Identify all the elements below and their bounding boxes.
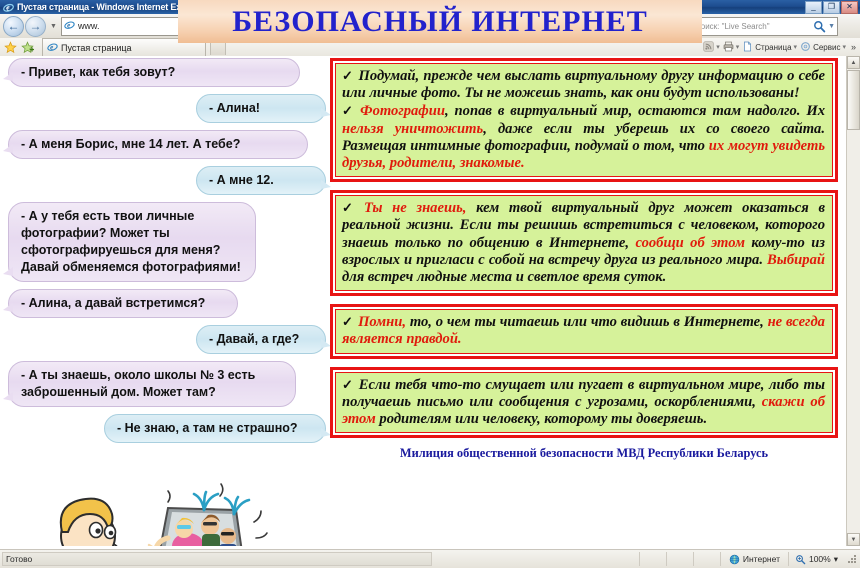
- tip-text: Если тебя что-то смущает или пугает в ви…: [342, 377, 825, 410]
- print-icon: [723, 41, 734, 54]
- back-button[interactable]: ←: [3, 16, 24, 37]
- tip-paragraph: ✓Подумай, прежде чем выслать виртуальном…: [342, 67, 825, 172]
- svg-text:e: e: [6, 5, 9, 12]
- command-item-page-label: Страница: [755, 43, 791, 52]
- status-cell: [693, 552, 720, 566]
- rss-feed-icon: [703, 41, 714, 54]
- chat-bubble: - Привет, как тебя зовут?: [8, 58, 300, 87]
- security-zone-label: Интернет: [743, 554, 780, 564]
- tools-icon: [800, 41, 811, 54]
- ie-logo-icon: e: [3, 2, 14, 13]
- tip-box: ✓Если тебя что-то смущает или пугает в в…: [330, 367, 838, 439]
- command-item-feeds[interactable]: ▾: [703, 41, 720, 54]
- forward-button[interactable]: →: [25, 16, 46, 37]
- ie-logo-icon: e: [64, 17, 75, 35]
- tip-box: ✓Ты не знаешь, кем твой виртуальный друг…: [330, 190, 838, 296]
- status-bar: Готово Интернет: [0, 549, 860, 568]
- safety-tips-panel: ✓Подумай, прежде чем выслать виртуальном…: [330, 58, 838, 461]
- check-icon: ✓: [342, 200, 359, 215]
- tip-text-highlight: нельзя уничтожить: [342, 121, 483, 137]
- browser-window: e Пустая страница - Windows Internet Exp…: [0, 0, 860, 568]
- tip-text: для встреч людные места и светлое время …: [342, 269, 666, 285]
- page-title: БЕЗОПАСНЫЙ ИНТЕРНЕТ: [232, 7, 648, 37]
- status-message: Готово: [2, 552, 432, 566]
- command-item-tools-label: Сервис: [813, 43, 840, 52]
- tip-text: родителям или человеку, которому ты дове…: [376, 411, 707, 427]
- chevron-down-icon[interactable]: ▾: [716, 43, 720, 51]
- scroll-down-button[interactable]: ▼: [847, 533, 860, 546]
- browser-tab-label: Пустая страница: [61, 43, 132, 53]
- security-zone[interactable]: Интернет: [720, 552, 788, 566]
- scroll-up-button[interactable]: ▲: [847, 56, 860, 69]
- tip-box-inner: ✓Помни, то, о чем ты читаешь или что вид…: [335, 309, 833, 353]
- zoom-level-label: 100%: [809, 554, 831, 564]
- chat-bubble: - А у тебя есть твои личные фотографии? …: [8, 202, 256, 282]
- command-item-page[interactable]: Страница ▾: [742, 41, 797, 54]
- footer-credit: Милиция общественной безопасности МВД Ре…: [330, 446, 838, 461]
- window-controls: _ ❐ ✕: [805, 1, 858, 14]
- tip-box: ✓Помни, то, о чем ты читаешь или что вид…: [330, 304, 838, 358]
- tip-box-inner: ✓Подумай, прежде чем выслать виртуальном…: [335, 63, 833, 177]
- tip-text-highlight: Фотографии: [360, 103, 445, 119]
- search-input[interactable]: Поиск: "Live Search": [695, 22, 813, 32]
- tip-text-highlight: сообщи об этом: [635, 235, 744, 251]
- chevron-down-icon[interactable]: ▾: [794, 43, 798, 51]
- tip-text-highlight: Ты не знаешь,: [364, 200, 467, 216]
- chat-bubble: - Алина!: [196, 94, 326, 123]
- tip-text: то, о чем ты читаешь или что видишь в Ин…: [406, 314, 768, 330]
- page-icon: [742, 41, 753, 54]
- tip-text-highlight: Выбирай: [767, 252, 825, 268]
- tip-paragraph: ✓Помни, то, о чем ты читаешь или что вид…: [342, 313, 825, 348]
- magnifier-icon[interactable]: [813, 20, 826, 33]
- command-item-print[interactable]: ▾: [723, 41, 740, 54]
- command-overflow-button[interactable]: »: [851, 42, 856, 52]
- tip-box: ✓Подумай, прежде чем выслать виртуальном…: [330, 58, 838, 182]
- zoom-icon: [795, 554, 806, 565]
- star-plus-icon[interactable]: [21, 41, 34, 54]
- status-cells: [639, 552, 720, 566]
- minimize-button[interactable]: _: [805, 1, 822, 14]
- command-bar: ▾ ▾ Страница ▾: [703, 38, 856, 56]
- chat-bubble: - Алина, а давай встретимся?: [8, 289, 238, 318]
- vertical-scrollbar[interactable]: ▲ ▼: [846, 56, 860, 546]
- chat-bubble: - А меня Борис, мне 14 лет. А тебе?: [8, 130, 308, 159]
- chat-bubble: - А ты знаешь, около школы № 3 есть забр…: [8, 361, 296, 407]
- chevron-down-icon[interactable]: ▼: [50, 23, 57, 30]
- search-dropdown-caret[interactable]: ▼: [828, 23, 835, 30]
- chevron-down-icon[interactable]: ▾: [834, 554, 838, 565]
- close-button[interactable]: ✕: [841, 1, 858, 14]
- restore-button[interactable]: ❐: [823, 1, 840, 14]
- address-input-value[interactable]: www.: [78, 21, 100, 31]
- check-icon: ✓: [342, 103, 355, 118]
- chat-bubble: - Не знаю, а там не страшно?: [104, 414, 326, 443]
- ie-logo-icon: e: [47, 39, 58, 57]
- chat-bubble: - Давай, а где?: [196, 325, 326, 354]
- tip-text: , попав в виртуальный мир, остаются там …: [445, 103, 825, 119]
- tip-text-highlight: Помни,: [358, 314, 406, 330]
- tip-box-inner: ✓Если тебя что-то смущает или пугает в в…: [335, 372, 833, 434]
- tip-text: Подумай, прежде чем выслать виртуальному…: [342, 68, 825, 101]
- star-icon[interactable]: [4, 41, 17, 54]
- tip-paragraph: ✓Ты не знаешь, кем твой виртуальный друг…: [342, 199, 825, 286]
- status-cell: [666, 552, 693, 566]
- search-bar[interactable]: Поиск: "Live Search" ▼: [692, 17, 838, 36]
- page-viewport: - Привет, как тебя зовут? - Алина! - А м…: [0, 56, 860, 546]
- tip-paragraph: ✓Если тебя что-то смущает или пугает в в…: [342, 376, 825, 429]
- scrollbar-thumb[interactable]: [847, 70, 860, 130]
- tip-box-inner: ✓Ты не знаешь, кем твой виртуальный друг…: [335, 195, 833, 291]
- chat-conversation: - Привет, как тебя зовут? - Алина! - А м…: [8, 58, 326, 450]
- command-item-tools[interactable]: Сервис ▾: [800, 41, 846, 54]
- chat-bubble: - А мне 12.: [196, 166, 326, 195]
- resize-grip[interactable]: [846, 553, 858, 565]
- chevron-down-icon[interactable]: ▾: [842, 43, 846, 51]
- check-icon: ✓: [342, 68, 354, 83]
- zoom-control[interactable]: 100% ▾: [788, 552, 844, 566]
- status-cell: [639, 552, 666, 566]
- check-icon: ✓: [342, 377, 354, 392]
- chevron-down-icon[interactable]: ▾: [736, 43, 740, 51]
- globe-icon: [729, 554, 740, 565]
- page-banner: БЕЗОПАСНЫЙ ИНТЕРНЕТ: [178, 0, 702, 43]
- boy-at-laptop-illustration: [18, 474, 318, 546]
- check-icon: ✓: [342, 314, 353, 329]
